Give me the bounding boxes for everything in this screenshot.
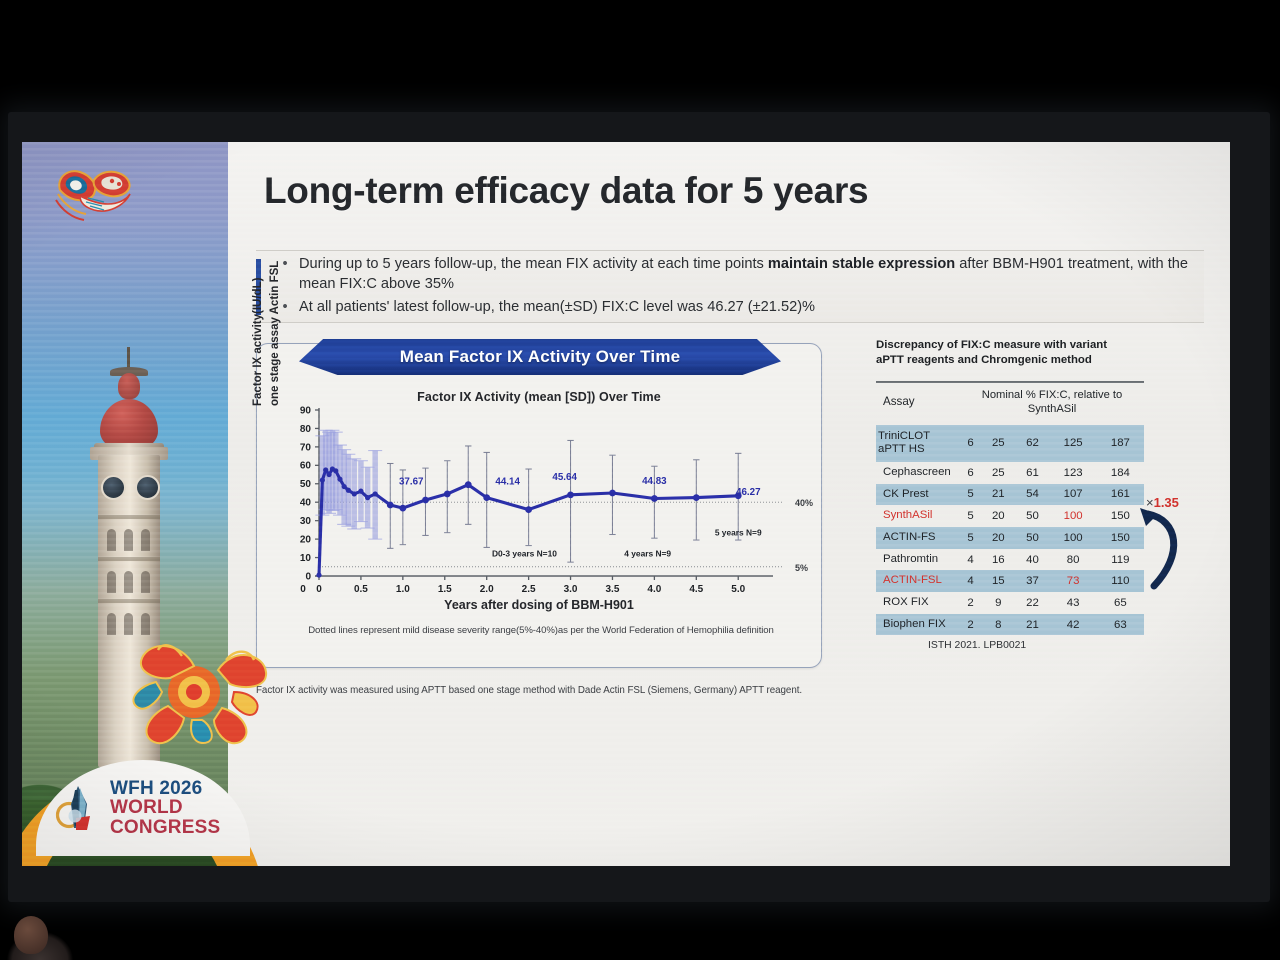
x-tick-label: 2.5 [522,584,536,595]
data-point [444,491,451,498]
table-cell-value: 50 [1015,527,1049,549]
data-label: 37.67 [399,477,424,488]
factor-ix-line-chart: 0102030405060708090000.51.01.52.02.53.03… [257,400,823,620]
data-label: 44.14 [495,477,520,488]
y-tick-label: 60 [300,461,312,472]
table-cell-value: 5 [960,484,981,506]
x-tick-label: 1.5 [438,584,452,595]
y-tick-label: 50 [300,479,312,490]
table-row: CK Prest52154107161 [876,484,1144,506]
logo-line-1: WFH 2026 [110,779,220,798]
data-point [483,494,490,501]
table-body: TriniCLOTaPTT HS62562125187Cephascreen62… [876,425,1144,636]
data-point [373,491,378,496]
table-cell-value: 2 [960,614,981,636]
data-point [358,489,363,494]
data-point [365,495,370,500]
table-row: ROX FIX29224365 [876,592,1144,614]
y-tick-label: 90 [300,405,312,416]
col-header-group-line2: SynthASil [962,402,1142,416]
bullet-text: During up to 5 years follow-up, the mean… [299,255,1204,294]
y-tick-label: 40 [300,498,312,509]
table-cell-value: 5 [960,527,981,549]
data-point [609,490,616,497]
y-tick-label: 10 [300,553,312,564]
assay-name-line: Pathromtin [883,553,958,567]
table-cell-value: 184 [1097,462,1144,484]
table-cell-value: 5 [960,505,981,527]
chart-footnote: Dotted lines represent mild disease seve… [273,625,809,636]
bullet-1-pre: During up to 5 years follow-up, the mean… [299,256,768,272]
table-row: SynthASil52050100150 [876,505,1144,527]
data-point [342,484,347,489]
chart-annotation: 4 years N=9 [624,549,671,559]
table-cell-value: 25 [981,462,1015,484]
x-tick-label: 0.5 [354,584,368,595]
data-label: 45.64 [552,472,577,483]
x-tick-label: 5.0 [731,584,745,595]
table-cell-value: 61 [1015,462,1049,484]
data-point [422,497,429,504]
data-point [333,468,338,473]
table-cell-value: 20 [981,505,1015,527]
logo-line-2: WORLD [110,798,220,817]
chart-annotation: D0-3 years N=10 [492,549,557,559]
chart-card: Mean Factor IX Activity Over Time Factor… [256,343,822,668]
batik-flower-icon [122,636,272,746]
table-cell-value: 42 [1050,614,1097,636]
bullet-2-text: At all patients' latest follow-up, the m… [299,298,815,317]
table-cell-value: 15 [981,570,1015,592]
table-cell-value: 37 [1015,570,1049,592]
assay-name-line: ACTIN-FSL [883,574,958,588]
table-title-line1: Discrepancy of FIX:C measure with varian… [876,338,1176,353]
table-cell-value: 22 [1015,592,1049,614]
table-cell-value: 4 [960,570,981,592]
assay-discrepancy-panel: Discrepancy of FIX:C measure with varian… [876,338,1176,635]
col-header-group-line1: Nominal % FIX:C, relative to [962,388,1142,402]
x-tick-label: 3.0 [564,584,578,595]
table-cell-value: 100 [1050,505,1097,527]
assay-name-line: aPTT HS [878,443,958,457]
bullet-1-bold: maintain stable expression [768,256,955,272]
y-tick-label: 80 [300,424,312,435]
data-point [651,495,658,502]
table-cell-value: 161 [1097,484,1144,506]
table-cell-value: 21 [981,484,1015,506]
table-cell-value: 107 [1050,484,1097,506]
table-cell-value: 125 [1050,425,1097,462]
table-cell-value: 43 [1050,592,1097,614]
table-cell-value: 50 [1015,505,1049,527]
col-header-group: Nominal % FIX:C, relative to SynthASil [960,382,1144,425]
wfh-logo-icon [54,782,102,834]
key-messages-box: • During up to 5 years follow-up, the me… [256,250,1204,323]
assay-name-line: CK Prest [883,488,958,502]
table-citation: ISTH 2021. LPB0021 [928,640,1026,651]
table-cell-value: 4 [960,549,981,571]
speaker-silhouette [0,900,120,960]
data-point [337,477,342,482]
table-cell-value: 21 [1015,614,1049,636]
assay-table: Assay Nominal % FIX:C, relative to Synth… [876,381,1144,636]
table-cell-value: 6 [960,462,981,484]
table-cell-value: 54 [1015,484,1049,506]
slide-footnote: Factor IX activity was measured using AP… [256,685,1196,696]
x-tick-label: 4.5 [689,584,703,595]
y-axis-label-line1: Factor IX activity(IU/dL) [252,278,264,406]
chart-banner: Mean Factor IX Activity Over Time [299,339,781,375]
logo-line-3: CONGRESS [110,818,220,837]
data-point [525,506,532,513]
table-cell-value: 80 [1050,549,1097,571]
table-cell-assay: ACTIN-FSL [876,570,960,592]
plot-area: 0102030405060708090000.51.01.52.02.53.03… [257,400,823,620]
table-cell-assay: TriniCLOTaPTT HS [876,425,960,462]
table-cell-value: 40 [1015,549,1049,571]
data-point [326,472,331,477]
curved-arrow-icon [1134,504,1188,600]
table-cell-value: 16 [981,549,1015,571]
data-point [387,502,394,509]
table-cell-value: 123 [1050,462,1097,484]
table-cell-value: 25 [981,425,1015,462]
wfh-logo-text: WFH 2026 WORLD CONGRESS [110,779,220,837]
table-cell-value: 20 [981,527,1015,549]
x-tick-label: 1.0 [396,584,410,595]
presentation-slide: WFH 2026 WORLD CONGRESS Long-term effica… [22,142,1230,866]
data-point [316,572,321,577]
assay-name-line: ACTIN-FS [883,531,958,545]
table-cell-value: 63 [1097,614,1144,636]
data-point [320,477,325,482]
x-tick-label: 4.0 [647,584,661,595]
chart-annotation: 5 years N=9 [715,527,762,537]
assay-name-line: TriniCLOT [878,430,958,444]
data-point [693,494,700,501]
y-tick-label: 70 [300,442,312,453]
speaker-head [14,916,48,954]
x-tick-label: 3.5 [606,584,620,595]
table-row: ACTIN-FS52050100150 [876,527,1144,549]
table-row: TriniCLOTaPTT HS62562125187 [876,425,1144,462]
table-row: Cephascreen62561123184 [876,462,1144,484]
chart-banner-title: Mean Factor IX Activity Over Time [400,347,681,367]
table-cell-value: 100 [1050,527,1097,549]
slide-title: Long-term efficacy data for 5 years [264,170,868,212]
projection-surface: WFH 2026 WORLD CONGRESS Long-term effica… [22,142,1230,866]
reference-line-label: 5% [795,563,808,573]
table-cell-value: 73 [1050,570,1097,592]
table-cell-assay: Biophen FIX [876,614,960,636]
assay-name-line: SynthASil [883,509,958,523]
y-axis-label-line2: one stage assay Actin FSL [269,261,281,406]
x-axis-label: Years after dosing of BBM-H901 [257,598,821,612]
table-cell-value: 8 [981,614,1015,636]
table-title-line2: aPTT reagents and Chromgenic method [876,353,1176,368]
x-tick-label: 2.0 [480,584,494,595]
data-label: 46.27 [736,487,761,498]
data-point [352,491,357,496]
table-row: Biophen FIX28214263 [876,614,1144,636]
x-tick-label: 0 [316,584,322,595]
data-point [346,488,351,493]
data-point [567,491,574,498]
y-tick-label: 30 [300,516,312,527]
data-point [399,505,406,512]
bullet-item: • At all patients' latest follow-up, the… [280,298,1204,317]
table-cell-assay: SynthASil [876,505,960,527]
bullet-list: • During up to 5 years follow-up, the me… [280,255,1204,317]
y-tick-label: 20 [300,535,312,546]
table-cell-assay: Cephascreen [876,462,960,484]
table-row: Pathromtin4164080119 [876,549,1144,571]
screenshot-root: WFH 2026 WORLD CONGRESS Long-term effica… [0,0,1280,960]
bullet-dot-icon: • [280,255,290,294]
table-cell-assay: Pathromtin [876,549,960,571]
table-cell-value: 6 [960,425,981,462]
table-title: Discrepancy of FIX:C measure with varian… [876,338,1176,369]
table-row: ACTIN-FSL4153773110 [876,570,1144,592]
table-head: Assay Nominal % FIX:C, relative to Synth… [876,382,1144,425]
table-cell-assay: ROX FIX [876,592,960,614]
col-header-assay: Assay [876,382,960,425]
table-cell-assay: ACTIN-FS [876,527,960,549]
table-header-row: Assay Nominal % FIX:C, relative to Synth… [876,382,1144,425]
data-label: 44.83 [642,476,667,487]
table-cell-value: 9 [981,592,1015,614]
data-point [465,481,472,488]
x-tick-label: 0 [300,584,306,595]
table-cell-assay: CK Prest [876,484,960,506]
bullet-dot-icon: • [280,298,290,317]
batik-butterfly-icon [50,160,136,224]
assay-name-line: Cephascreen [883,466,958,480]
assay-name-line: ROX FIX [883,596,958,610]
projector-screen-bezel: WFH 2026 WORLD CONGRESS Long-term effica… [8,112,1270,902]
reference-line-label: 40% [795,498,813,508]
assay-name-line: Biophen FIX [883,618,958,632]
table-cell-value: 2 [960,592,981,614]
slide-content: Long-term efficacy data for 5 years • Du… [228,142,1230,866]
y-tick-label: 0 [305,571,311,582]
table-cell-value: 62 [1015,425,1049,462]
bullet-item: • During up to 5 years follow-up, the me… [280,255,1204,294]
data-point [323,467,328,472]
table-cell-value: 187 [1097,425,1144,462]
